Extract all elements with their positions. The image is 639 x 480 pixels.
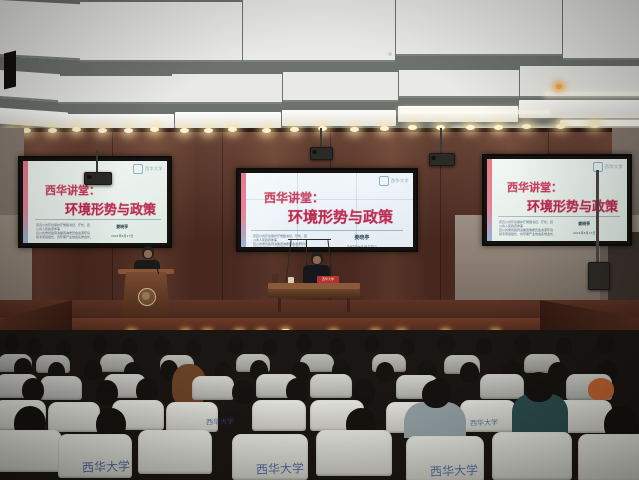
audience-chair <box>192 376 234 400</box>
audience-head <box>364 335 380 353</box>
audience-head <box>438 334 455 353</box>
audience-head <box>376 362 394 382</box>
speaker-stand-pole <box>596 170 599 270</box>
right-projection-screen[interactable]: 西华大学 西华讲堂： 环境形势与政策 原四川省环境保护厅党组书记、厅长，四 川省… <box>482 154 632 246</box>
amber-downlight <box>556 84 562 89</box>
host-table-leg-left <box>278 298 281 312</box>
chair-cover-text: 西华大学 <box>206 417 234 428</box>
audience-head <box>422 380 450 408</box>
audience-head <box>400 339 415 355</box>
audience-head <box>460 362 479 383</box>
audience-chair <box>310 374 352 398</box>
acoustic-panel <box>282 110 396 126</box>
acoustic-panel <box>283 72 398 102</box>
projector-lens-icon <box>87 175 92 179</box>
audience-chair <box>578 434 639 480</box>
mic-stand-top-bar <box>288 239 331 240</box>
acoustic-panel <box>80 2 242 62</box>
acoustic-panel <box>243 0 395 62</box>
center-slide: 西华大学 西华讲堂： 环境形势与政策 原四川省环境保护厅党组书记、厅长，四 川省… <box>241 173 413 247</box>
host-table-leg-right <box>347 298 350 312</box>
ceiling-vent <box>4 51 16 90</box>
acoustic-panel <box>519 100 639 118</box>
lectern-emblem-inner <box>142 292 150 300</box>
acoustic-panel <box>58 76 172 104</box>
audience-chair <box>316 430 392 476</box>
audio-speaker <box>588 262 610 290</box>
audience-head <box>154 336 170 354</box>
screen-glare <box>487 159 627 241</box>
projector-mount-pole <box>320 128 322 148</box>
audience-head <box>84 360 102 380</box>
ceiling-sensor <box>388 52 392 56</box>
right-slide: 西华大学 西华讲堂： 环境形势与政策 原四川省环境保护厅党组书记、厅长，四 川省… <box>487 159 627 241</box>
audience-head <box>232 380 254 404</box>
audience-head <box>22 378 44 402</box>
linear-light-fixture <box>400 110 550 114</box>
audience-head <box>524 372 554 402</box>
audience-head <box>186 340 201 356</box>
audience-head <box>556 337 572 355</box>
audience-head <box>330 338 345 355</box>
audience-head <box>92 335 108 353</box>
acoustic-panel <box>398 106 518 122</box>
linear-light-fixture <box>545 92 639 96</box>
screen-glare <box>241 173 413 247</box>
host-nameplate-text: 西华大学 <box>318 276 338 283</box>
projector-lens-icon <box>312 150 317 154</box>
acoustic-panel <box>563 0 639 60</box>
audience-head <box>514 335 531 354</box>
audience-head <box>26 338 41 355</box>
audience-head <box>228 336 244 354</box>
projector-lens-icon <box>431 156 436 160</box>
audience-head <box>296 334 312 352</box>
chair-cover-text: 西华大学 <box>256 459 305 478</box>
acoustic-panel <box>172 74 282 104</box>
audience-head-with-cap <box>588 378 614 400</box>
audience-chair <box>40 376 82 400</box>
audience-chair <box>0 430 62 472</box>
projector-mount-pole <box>440 128 442 154</box>
lecture-hall-photo: 西华大学 西华讲堂： 环境形势与政策 原四川省环境保护厅党组书记、厅长，四 川省… <box>0 0 639 480</box>
audience-head <box>4 334 20 352</box>
acoustic-panel <box>396 0 562 56</box>
audience-chair <box>48 402 100 432</box>
audience-head <box>122 338 137 355</box>
audience-chair <box>252 400 306 431</box>
audience-head <box>262 339 277 355</box>
audience-seating: 西华大学 西华大学 UNSHAKEABLE 西华大学 西华大学 西华大学 <box>0 330 639 480</box>
left-projection-screen[interactable]: 西华大学 西华讲堂： 环境形势与政策 原四川省环境保护厅党组书记、厅长，四 川省… <box>18 156 172 248</box>
host-face <box>313 256 321 264</box>
audience-chair <box>492 432 572 480</box>
audience-head <box>596 334 614 354</box>
speaker-face <box>144 250 152 258</box>
audience-chair <box>480 374 524 399</box>
host-table-front <box>268 289 360 298</box>
chair-cover-text: 西华大学 <box>82 457 131 476</box>
audience-head <box>56 340 71 356</box>
chair-cover-text: 西华大学 <box>430 461 479 480</box>
acoustic-panel <box>399 70 519 98</box>
audience-chair <box>138 430 212 474</box>
chair-cover-text: 西华大学 <box>470 418 498 429</box>
audience-head <box>476 338 492 355</box>
projector-mount-pole <box>96 150 98 174</box>
